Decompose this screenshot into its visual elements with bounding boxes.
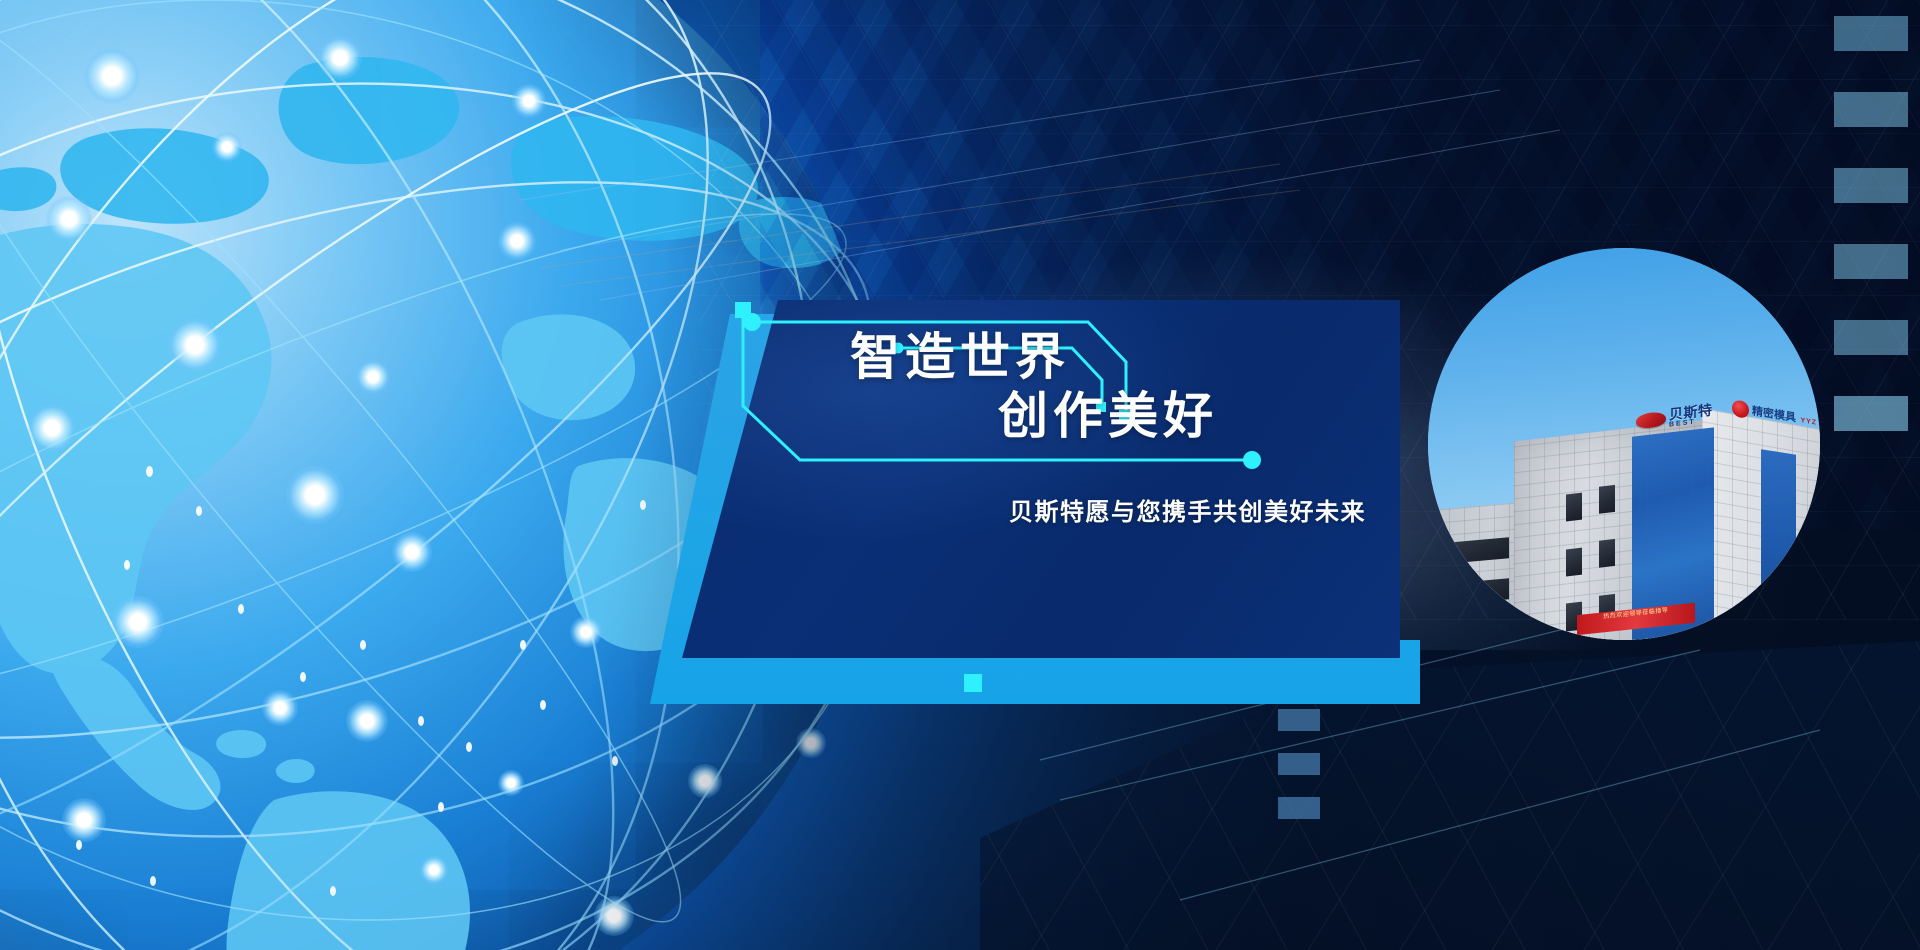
building-photo-medallion: 贝斯特 BEST 精密模具 YYZ 热烈欢迎领导莅临指导 xyxy=(1378,198,1870,690)
sign-secondary-en: YYZ xyxy=(1800,417,1817,427)
tile-grid xyxy=(1761,449,1796,635)
headline-subtitle: 贝斯特愿与您携手共创美好未来 xyxy=(846,492,1388,527)
headline-line-2: 创作美好 xyxy=(846,387,1366,446)
page-title: 智造世界 创作美好 xyxy=(846,328,1366,446)
glass-curtain-wall-right xyxy=(1761,449,1796,635)
secondary-logo-mark xyxy=(1732,399,1749,419)
window xyxy=(1599,485,1615,514)
headline-line-1: 智造世界 xyxy=(846,328,1366,387)
building-photo: 贝斯特 BEST 精密模具 YYZ 热烈欢迎领导莅临指导 xyxy=(1428,248,1820,640)
edge-block xyxy=(1834,16,1908,51)
hero-banner: 贝斯特 BEST 精密模具 YYZ 热烈欢迎领导莅临指导 xyxy=(0,0,1920,950)
window xyxy=(1566,548,1582,577)
circuit-node-square xyxy=(735,302,751,318)
edge-block xyxy=(1834,92,1908,127)
cyan-square-accent xyxy=(964,674,982,692)
mid-block xyxy=(1278,797,1320,819)
circuit-dot xyxy=(1243,451,1261,469)
mid-block xyxy=(1278,709,1320,731)
mid-block xyxy=(1278,753,1320,775)
headline-panel: 智造世界 创作美好 贝斯特愿与您携手共创美好未来 xyxy=(640,300,1400,700)
window xyxy=(1599,539,1615,568)
company-logo-swoosh xyxy=(1636,411,1666,429)
window xyxy=(1566,493,1582,522)
